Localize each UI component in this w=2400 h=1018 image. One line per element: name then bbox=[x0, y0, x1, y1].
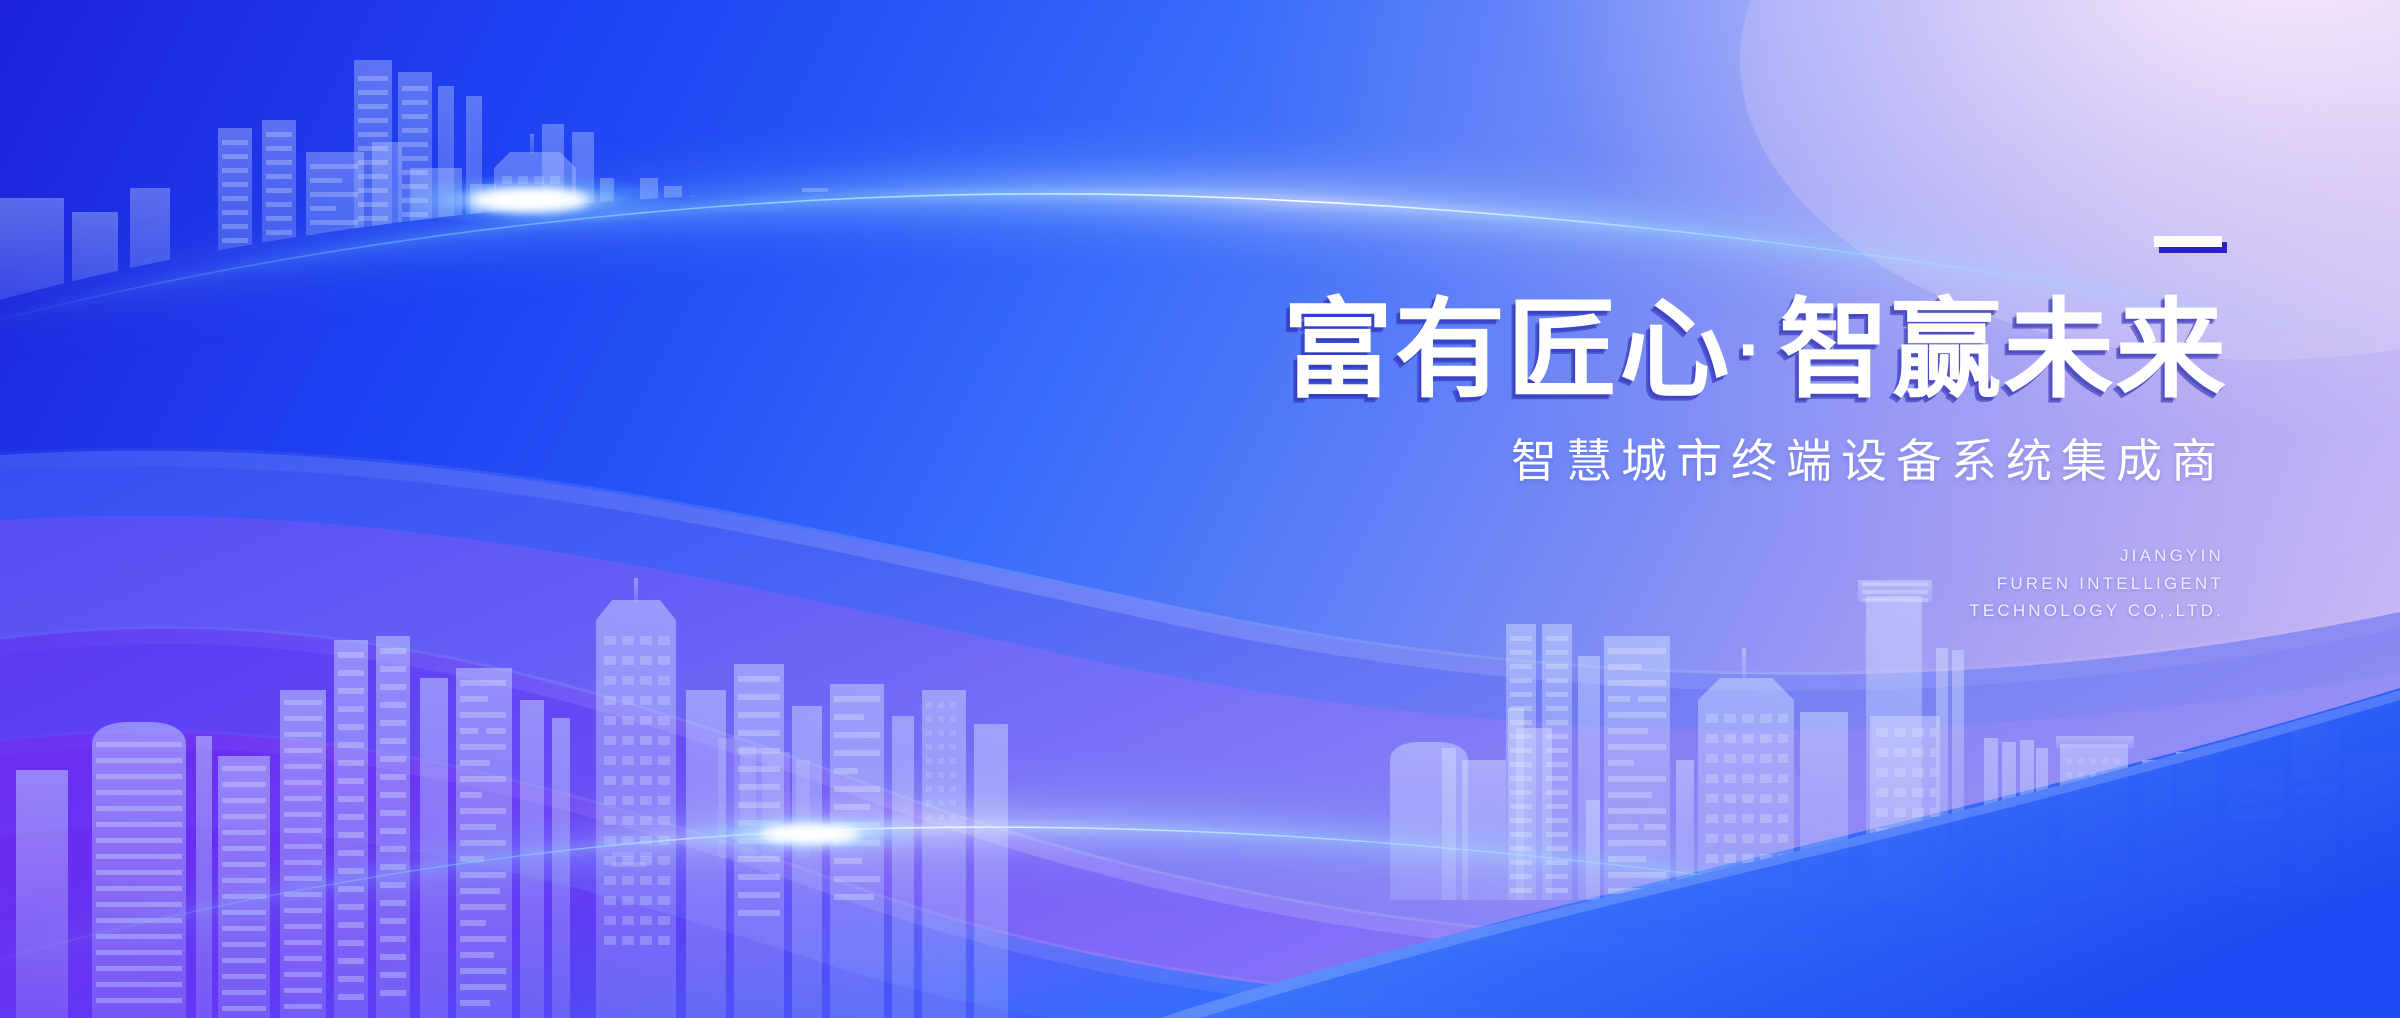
decorative-dash-icon bbox=[2154, 236, 2222, 247]
company-line-2: FUREN INTELLIGENT bbox=[1028, 570, 2224, 598]
company-line-3: TECHNOLOGY CO,.LTD. bbox=[1028, 597, 2224, 625]
page-title: 富有匠心·智赢未来 bbox=[1004, 296, 2228, 404]
page-subtitle: 智慧城市终端设备系统集成商 bbox=[1028, 438, 2228, 484]
headline-separator-dot: · bbox=[1732, 308, 1780, 391]
hero-banner: 富有匠心·智赢未来 智慧城市终端设备系统集成商 JIANGYIN FUREN I… bbox=[0, 0, 2400, 1018]
company-line-1: JIANGYIN bbox=[1028, 542, 2224, 570]
headline-left: 富有匠心 bbox=[1283, 289, 1732, 410]
headline-right: 智赢未来 bbox=[1779, 289, 2228, 410]
hero-text-block: 富有匠心·智赢未来 智慧城市终端设备系统集成商 JIANGYIN FUREN I… bbox=[1028, 236, 2228, 625]
company-name-english: JIANGYIN FUREN INTELLIGENT TECHNOLOGY CO… bbox=[1028, 542, 2228, 625]
